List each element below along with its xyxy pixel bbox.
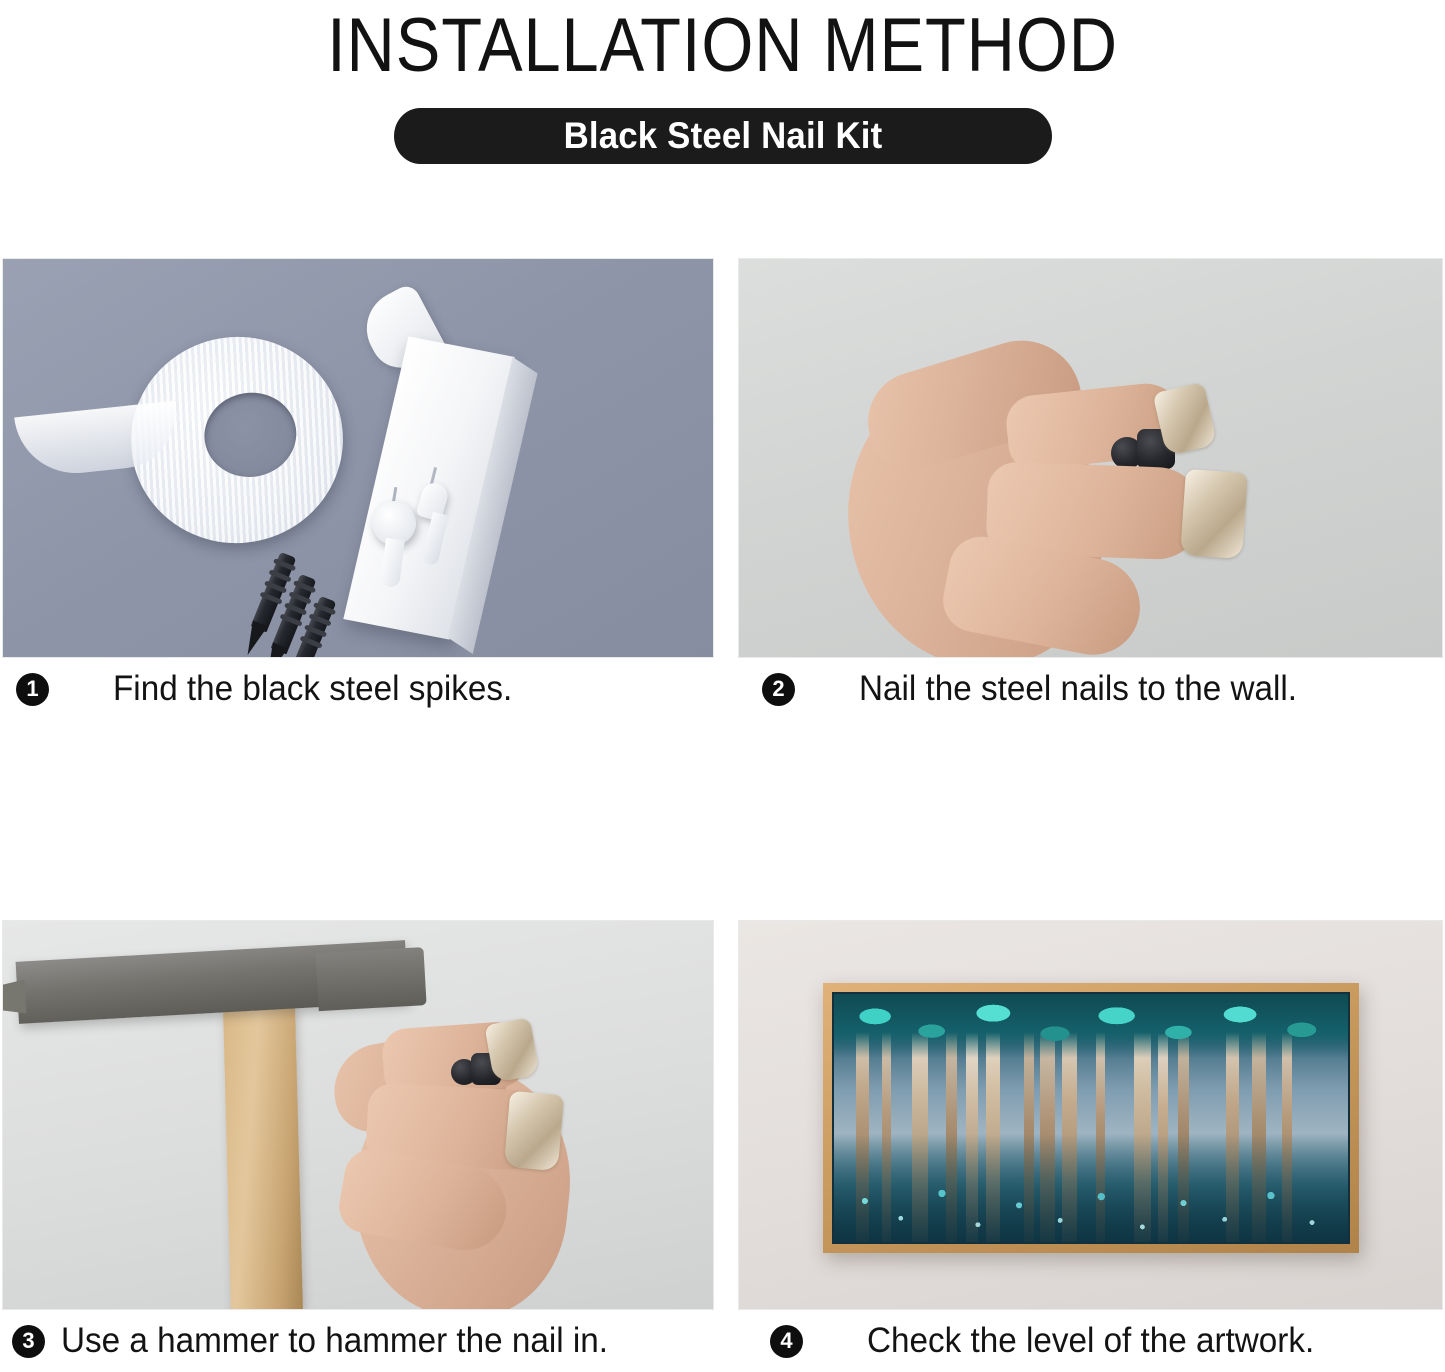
- step-number-badge: 4: [770, 1325, 803, 1358]
- teal-blossom-undergrowth: [834, 1134, 1348, 1242]
- steps-row-top: 1 Find the black steel spikes. 2: [0, 258, 1445, 720]
- step-number-badge: 3: [12, 1325, 45, 1358]
- step-3-caption: 3 Use a hammer to hammer the nail in.: [2, 1310, 714, 1372]
- step-1: 1 Find the black steel spikes.: [2, 258, 714, 720]
- artwork-wood-frame: [823, 983, 1359, 1253]
- hammer-handle: [223, 1006, 303, 1310]
- step-4-photo: [738, 920, 1443, 1310]
- step-1-caption: 1 Find the black steel spikes.: [2, 658, 714, 720]
- artwork-canvas: [832, 992, 1350, 1244]
- step-number-badge: 1: [16, 673, 49, 706]
- step-1-photo: [2, 258, 714, 658]
- step-3-photo: [2, 920, 714, 1310]
- step-2-caption: 2 Nail the steel nails to the wall.: [738, 658, 1443, 720]
- page-title: INSTALLATION METHOD: [87, 4, 1359, 88]
- step-4-caption: 4 Check the level of the artwork.: [738, 1310, 1443, 1372]
- step-caption-text: Use a hammer to hammer the nail in.: [61, 1321, 608, 1361]
- hammer-head: [16, 940, 409, 1024]
- fingernail: [504, 1091, 564, 1171]
- fingernail: [1180, 469, 1248, 559]
- step-number-badge: 2: [762, 673, 795, 706]
- step-2: 2 Nail the steel nails to the wall.: [738, 258, 1443, 720]
- step-4: 4 Check the level of the artwork.: [738, 920, 1443, 1372]
- step-3: 3 Use a hammer to hammer the nail in.: [2, 920, 714, 1372]
- hammer-peen-tip: [2, 979, 26, 1018]
- tape-roll-hole: [198, 386, 302, 483]
- subtitle-badge: Black Steel Nail Kit: [394, 108, 1052, 164]
- step-caption-text: Check the level of the artwork.: [867, 1321, 1314, 1361]
- steps-row-bottom: 3 Use a hammer to hammer the nail in. 4: [0, 920, 1445, 1372]
- box-side-face: [448, 357, 538, 654]
- step-caption-text: Find the black steel spikes.: [113, 669, 512, 709]
- step-2-photo: [738, 258, 1443, 658]
- step-caption-text: Nail the steel nails to the wall.: [859, 669, 1297, 709]
- teal-leaf-canopy: [834, 994, 1348, 1058]
- steps-grid: 1 Find the black steel spikes. 2: [0, 258, 1445, 1372]
- header: INSTALLATION METHOD Black Steel Nail Kit: [0, 0, 1445, 164]
- subtitle-badge-wrapper: Black Steel Nail Kit: [0, 108, 1445, 164]
- hammer-neck: [316, 947, 427, 1011]
